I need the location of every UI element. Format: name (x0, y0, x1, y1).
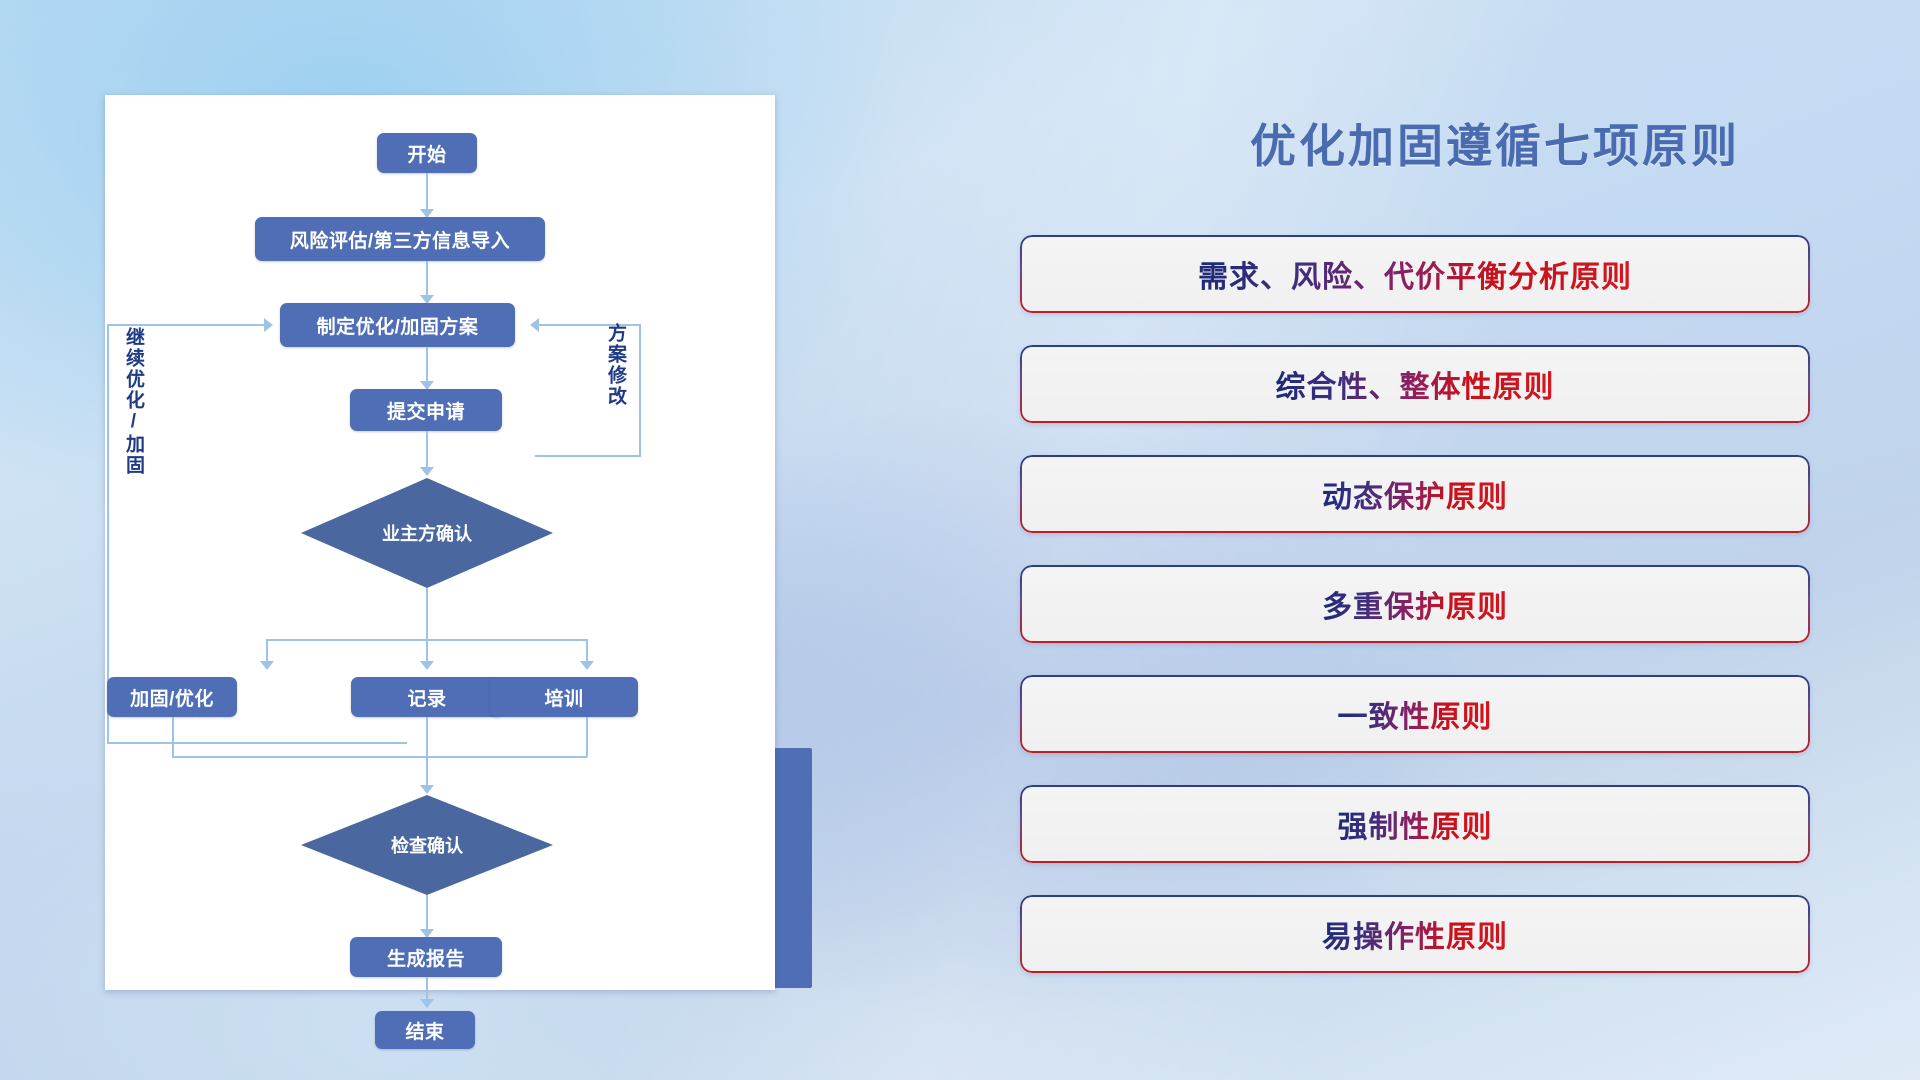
principle-card[interactable]: 动态保护原则 (1020, 455, 1810, 533)
principles-list: 需求、风险、代价平衡分析原则 综合性、整体性原则 动态保护原则 多重保护原则 一… (1020, 235, 1810, 1005)
flow-node-label: 加固/优化 (130, 684, 214, 711)
principle-card[interactable]: 一致性原则 (1020, 675, 1810, 753)
arrow-down-icon (260, 661, 274, 670)
flowchart: 开始 风险评估/第三方信息导入 制定优化/加固方案 继续优化/加固 方案修改 (105, 95, 775, 990)
flow-node-reinforce-optimize[interactable]: 加固/优化 (107, 677, 237, 717)
flow-node-label: 开始 (407, 140, 446, 167)
principle-label: 动态保护原则 (1322, 472, 1508, 516)
connector-merge-left (172, 717, 174, 757)
principle-label: 综合性、整体性原则 (1276, 362, 1555, 406)
arrow-down-icon (420, 467, 434, 476)
arrow-down-icon (420, 999, 434, 1008)
flow-decision-label: 业主方确认 (382, 520, 472, 546)
flow-node-training[interactable]: 培训 (490, 677, 638, 717)
connector-merge-to-check (426, 717, 428, 791)
principle-label: 强制性原则 (1338, 802, 1493, 846)
flow-node-label: 生成报告 (387, 944, 465, 971)
principle-label: 需求、风险、代价平衡分析原则 (1198, 252, 1632, 296)
principle-card[interactable]: 易操作性原则 (1020, 895, 1810, 973)
flow-node-label: 提交申请 (387, 397, 465, 424)
principle-card[interactable]: 需求、风险、代价平衡分析原则 (1020, 235, 1810, 313)
connector-right-loop-vertical (639, 324, 641, 456)
flow-node-risk-assessment[interactable]: 风险评估/第三方信息导入 (255, 217, 545, 261)
principles-panel: 优化加固遵循七项原则 需求、风险、代价平衡分析原则 综合性、整体性原则 动态保护… (1020, 0, 1920, 1080)
connector-right-loop-bottom (535, 455, 641, 457)
principle-label: 易操作性原则 (1322, 912, 1508, 956)
arrow-down-icon (420, 661, 434, 670)
principle-card[interactable]: 综合性、整体性原则 (1020, 345, 1810, 423)
edge-label-right-loop: 方案修改 (605, 323, 625, 407)
principle-card[interactable]: 强制性原则 (1020, 785, 1810, 863)
flow-decision-label: 检查确认 (391, 832, 463, 858)
arrow-right-icon (264, 318, 273, 332)
principle-label: 多重保护原则 (1322, 582, 1508, 626)
connector-merge-right (586, 717, 588, 757)
flow-node-start[interactable]: 开始 (377, 133, 477, 173)
flow-node-label: 记录 (407, 684, 446, 711)
flow-node-submit-application[interactable]: 提交申请 (350, 389, 502, 431)
connector-owner-split (426, 588, 428, 640)
edge-label-text: 继续优化/加固 (123, 327, 144, 476)
panel-title: 优化加固遵循七项原则 (1155, 110, 1835, 176)
flow-decision-owner-confirm-body[interactable]: 业主方确认 (301, 478, 553, 588)
connector-left-loop-bottom (107, 742, 407, 744)
flowchart-card: 开始 风险评估/第三方信息导入 制定优化/加固方案 继续优化/加固 方案修改 (105, 95, 775, 990)
flow-node-record[interactable]: 记录 (351, 677, 503, 717)
arrow-left-icon (530, 318, 539, 332)
flow-decision-check[interactable]: 检查确认 (301, 795, 553, 895)
edge-label-left-loop: 继续优化/加固 (123, 327, 143, 476)
arrow-down-icon (420, 785, 434, 794)
edge-label-text: 方案修改 (605, 323, 626, 407)
connector-left-loop-top (107, 324, 264, 326)
flow-node-label: 制定优化/加固方案 (317, 312, 479, 339)
principle-label: 一致性原则 (1338, 692, 1493, 736)
arrow-down-icon (580, 661, 594, 670)
flow-node-label: 结束 (405, 1017, 444, 1044)
connector-merge-horizontal (172, 756, 587, 758)
flow-node-generate-report[interactable]: 生成报告 (350, 937, 502, 977)
flow-node-label: 风险评估/第三方信息导入 (290, 226, 510, 253)
flow-node-plan[interactable]: 制定优化/加固方案 (280, 303, 515, 347)
principle-card[interactable]: 多重保护原则 (1020, 565, 1810, 643)
flow-node-label: 培训 (544, 684, 583, 711)
flow-node-end[interactable]: 结束 (375, 1011, 475, 1049)
